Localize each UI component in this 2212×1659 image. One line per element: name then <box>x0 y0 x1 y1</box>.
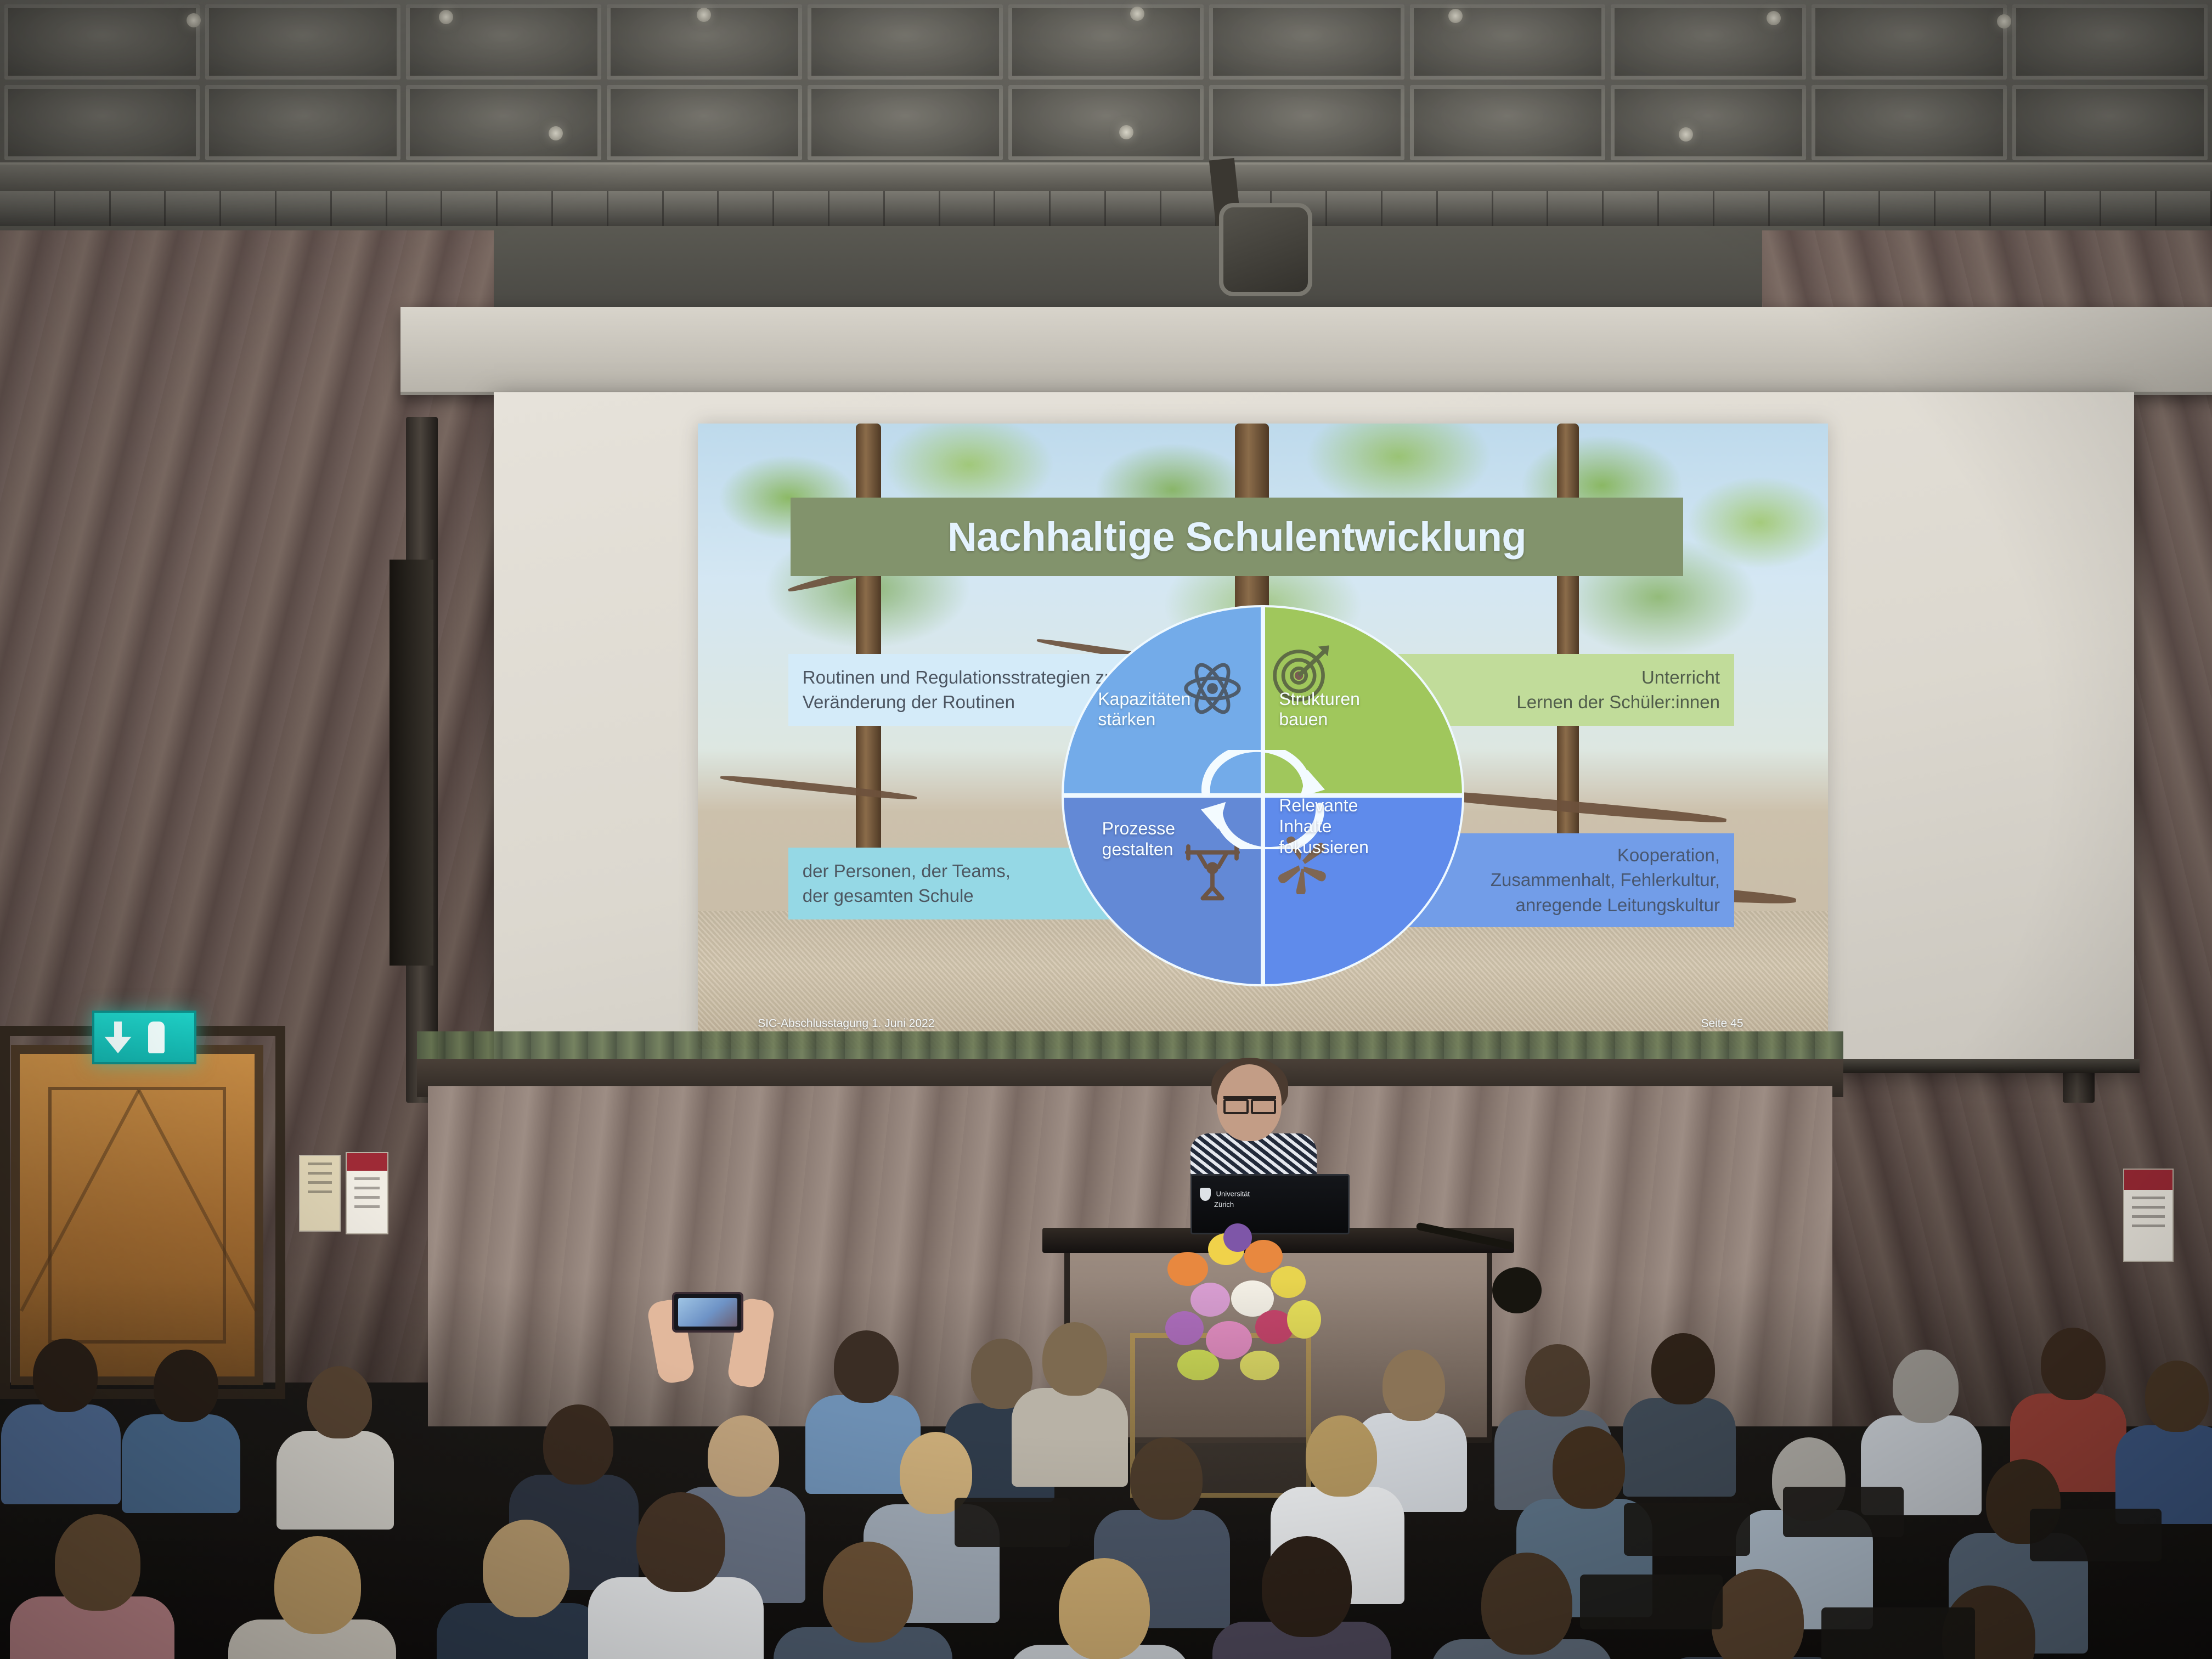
band-bottom-right-line2: Zusammenhalt, Fehlerkultur, <box>1491 867 1720 893</box>
band-bottom-right-line1: Kooperation, <box>1617 843 1720 868</box>
band-bottom-right-line3: anregende Leitungskultur <box>1516 893 1720 918</box>
wall-notice <box>299 1155 341 1232</box>
ceiling-light <box>439 10 453 24</box>
chair <box>1821 1607 1975 1659</box>
notice-header <box>2124 1170 2172 1190</box>
slide-title-banner: Nachhaltige Schulentwicklung <box>791 498 1683 577</box>
ceiling-light <box>1130 7 1144 21</box>
ceiling-speaker-icon <box>1219 203 1312 296</box>
audience-area <box>0 1278 2212 1659</box>
chair <box>1783 1487 1904 1537</box>
band-top-right-line1: Unterricht <box>1641 665 1720 690</box>
shield-icon <box>1200 1188 1211 1201</box>
university-logo: Universität Zürich <box>1200 1188 1250 1209</box>
ceiling-light <box>1679 127 1693 142</box>
smartphone[interactable] <box>672 1292 743 1333</box>
atom-icon <box>1182 658 1243 719</box>
chair <box>1624 1503 1750 1556</box>
projection-screen-housing <box>400 307 2212 395</box>
ceiling-light <box>1448 9 1463 23</box>
slide-footer-left: SIC-Abschlusstagung 1. Juni 2022 <box>758 1017 934 1030</box>
quadrant-label-bottom-right: Strukturen bauen <box>1279 689 1360 731</box>
quadrant-label-line: Relevante <box>1279 795 1369 816</box>
chair <box>2030 1509 2162 1561</box>
ceiling-light <box>549 126 563 140</box>
lecture-hall-photo: Nachhaltige Schulentwicklung Routinen un… <box>0 0 2212 1659</box>
quadrant-label-line: Strukturen <box>1279 689 1360 710</box>
quadrant-label-top-left: Prozesse gestalten <box>1102 819 1175 860</box>
quadrant-label-top-right: Relevante Inhalte fokussieren <box>1279 795 1369 857</box>
chair <box>1580 1575 1723 1629</box>
cornice-molding <box>0 162 2212 191</box>
phone-screen <box>678 1298 737 1327</box>
quadrant-label-line: Prozesse <box>1102 819 1175 839</box>
weightlifter-icon <box>1182 842 1243 902</box>
speaker-glasses <box>1223 1096 1276 1107</box>
presentation-slide: Nachhaltige Schulentwicklung Routinen un… <box>698 424 1828 1049</box>
slide-footer-right: Seite 45 <box>1701 1017 1743 1030</box>
emergency-exit-sign <box>92 1011 196 1064</box>
four-quadrant-circle-diagram: Prozesse gestalten Relevante Inhalte fok… <box>1062 605 1464 986</box>
quadrant-label-line: stärken <box>1098 709 1190 730</box>
ceiling-light <box>1997 14 2011 29</box>
quadrant-label-line: gestalten <box>1102 839 1175 860</box>
ceiling-light <box>187 13 201 27</box>
quadrant-label-line: fokussieren <box>1279 837 1369 858</box>
running-person-icon <box>148 1022 165 1053</box>
quadrant-label-line: Inhalte <box>1279 816 1369 837</box>
ceiling-coffers <box>0 0 2212 165</box>
quadrant-label-line: bauen <box>1279 709 1360 730</box>
ceiling-light <box>1767 11 1781 25</box>
wall-notice-red-header <box>2123 1169 2174 1262</box>
ceiling-light <box>1119 125 1133 139</box>
band-top-right-line2: Lernen der Schüler:innen <box>1516 690 1720 715</box>
slide-title: Nachhaltige Schulentwicklung <box>947 513 1526 560</box>
ceiling-light <box>697 8 711 22</box>
notice-header <box>347 1153 387 1171</box>
quadrant-label-line: Kapazitäten <box>1098 689 1190 710</box>
laptop-brand-line2: Zürich <box>1214 1200 1234 1209</box>
chair <box>955 1498 1070 1547</box>
wall-notice-red-header <box>346 1152 388 1234</box>
laptop-brand-line1: Universität <box>1216 1189 1250 1198</box>
exit-arrow-icon <box>102 1022 134 1053</box>
dentil-molding <box>0 191 2212 226</box>
wall-recess <box>390 560 433 966</box>
quadrant-label-bottom-left: Kapazitäten stärken <box>1098 689 1190 731</box>
